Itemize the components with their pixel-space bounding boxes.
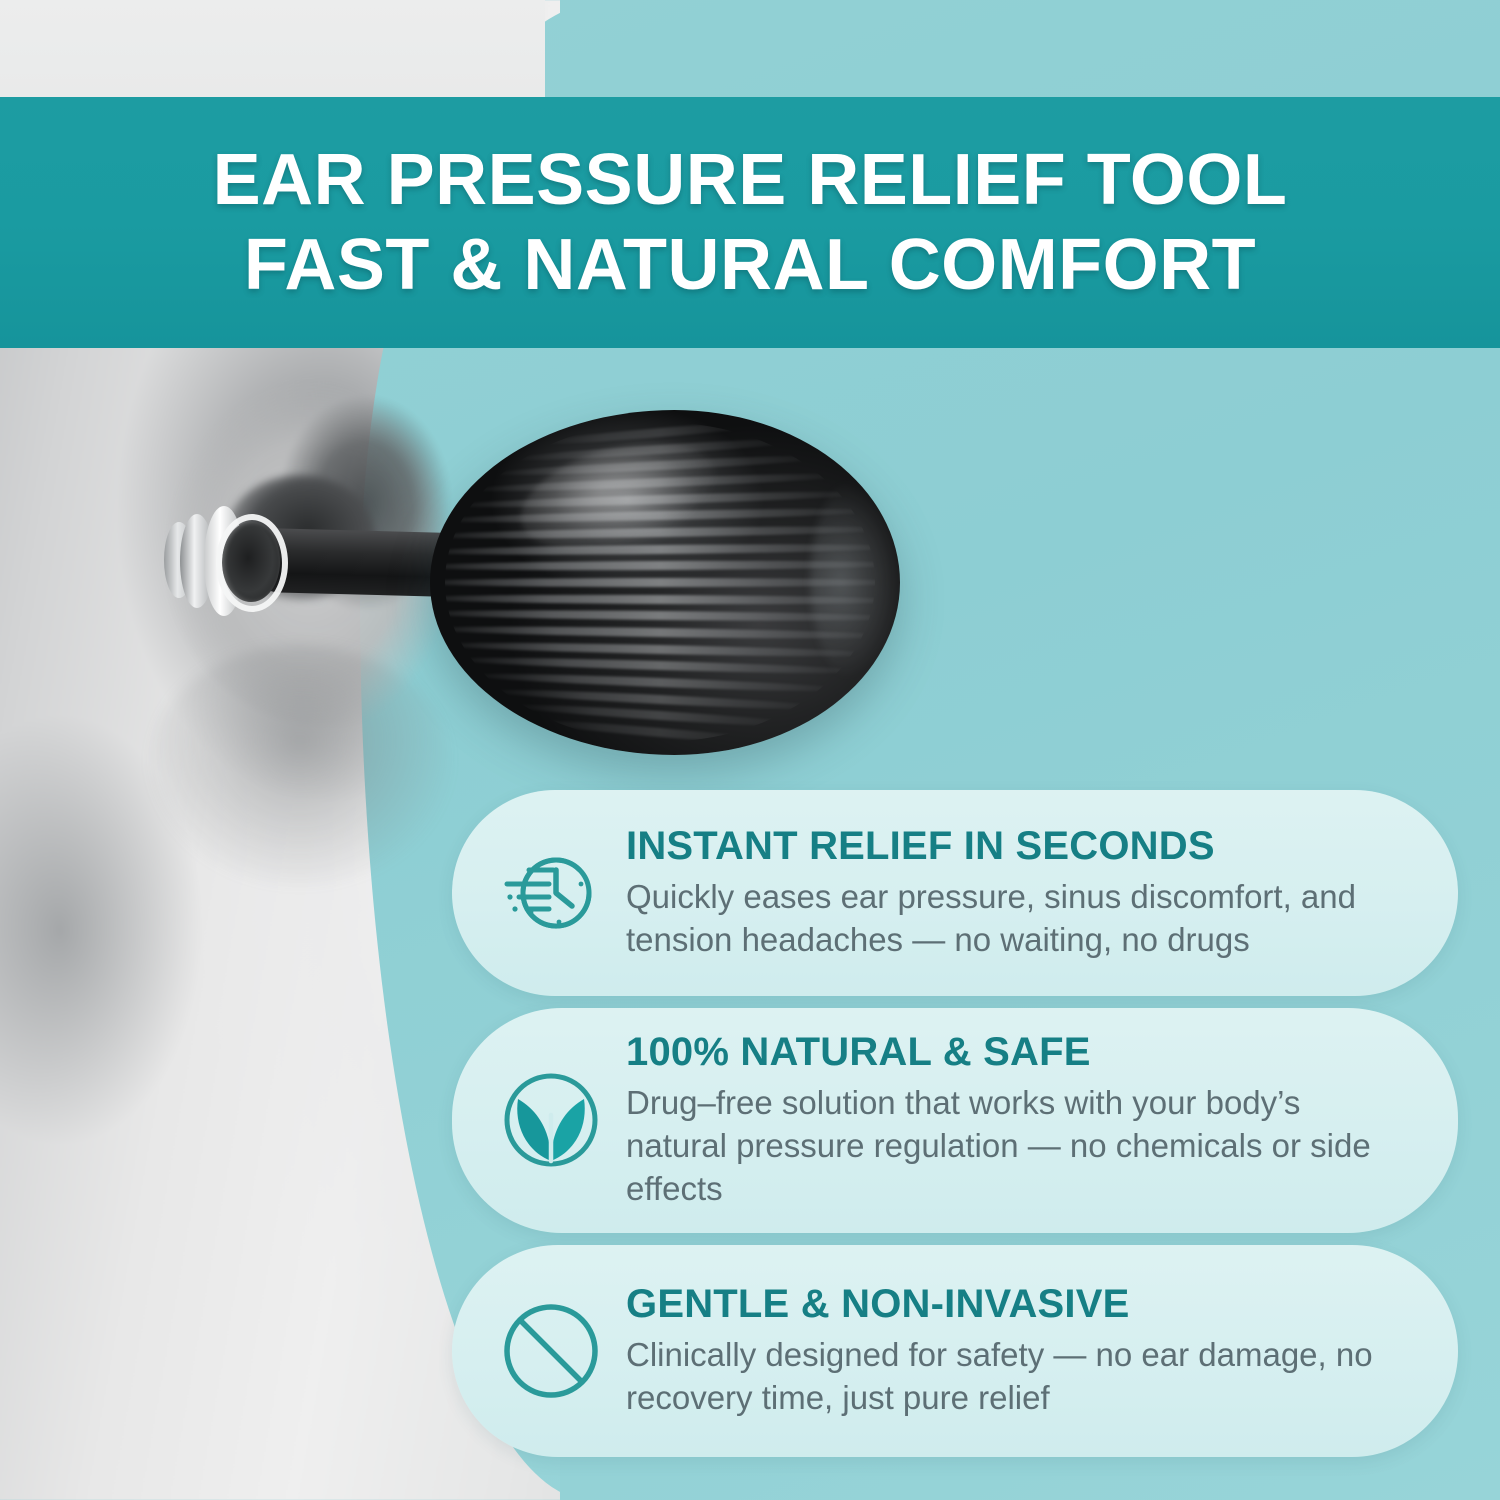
- feature-card-text: GENTLE & NON-INVASIVE Clinically designe…: [626, 1282, 1412, 1420]
- feature-card-title: INSTANT RELIEF IN SECONDS: [626, 824, 1402, 868]
- feature-card-gentle-noninvasive: GENTLE & NON-INVASIVE Clinically designe…: [452, 1245, 1458, 1457]
- feature-card-description: Clinically designed for safety — no ear …: [626, 1334, 1402, 1420]
- feature-card-natural-safe: 100% NATURAL & SAFE Drug–free solution t…: [452, 1008, 1458, 1233]
- feature-card-title: 100% NATURAL & SAFE: [626, 1030, 1402, 1074]
- photo-top-strip: [0, 0, 545, 97]
- chrome-nozzle: [160, 500, 320, 625]
- feature-card-text: INSTANT RELIEF IN SECONDS Quickly eases …: [626, 824, 1412, 962]
- feature-card-title: GENTLE & NON-INVASIVE: [626, 1282, 1402, 1326]
- bulb-rib: [445, 609, 875, 623]
- feature-card-instant-relief: INSTANT RELIEF IN SECONDS Quickly eases …: [452, 790, 1458, 996]
- bulb-rib: [445, 624, 875, 640]
- bulb-rib: [445, 640, 875, 659]
- header-banner: EAR PRESSURE RELIEF TOOL FAST & NATURAL …: [0, 97, 1500, 348]
- banner-title-line-1: EAR PRESSURE RELIEF TOOL: [213, 138, 1288, 223]
- prohibition-circle-slash-icon: [476, 1292, 626, 1410]
- feature-card-text: 100% NATURAL & SAFE Drug–free solution t…: [626, 1030, 1412, 1211]
- banner-title-line-2: FAST & NATURAL COMFORT: [244, 223, 1256, 308]
- feature-card-description: Quickly eases ear pressure, sinus discom…: [626, 876, 1402, 962]
- bulb-edge-light: [810, 480, 900, 680]
- fast-clock-icon: [476, 834, 626, 952]
- ear-pressure-relief-bulb: [250, 400, 950, 770]
- feature-card-description: Drug–free solution that works with your …: [626, 1082, 1402, 1211]
- nozzle-rim-light: [216, 514, 288, 612]
- leaf-natural-icon: [476, 1061, 626, 1179]
- product-marketing-image: EAR PRESSURE RELIEF TOOL FAST & NATURAL …: [0, 0, 1500, 1500]
- feature-card-list: INSTANT RELIEF IN SECONDS Quickly eases …: [452, 790, 1458, 1457]
